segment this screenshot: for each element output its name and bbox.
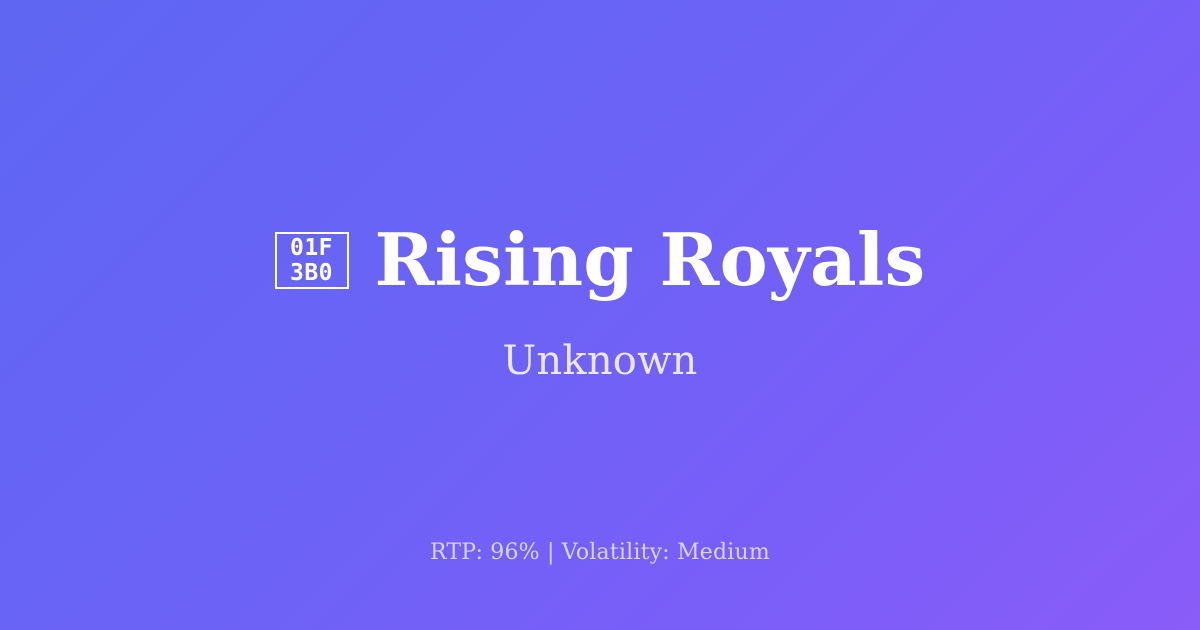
tofu-codepoint-row-top: 01F bbox=[290, 236, 333, 261]
tofu-codepoint-row-bottom: 3B0 bbox=[290, 261, 333, 286]
slot-machine-icon: 01F 3B0 bbox=[275, 232, 349, 289]
og-image-card: 01F 3B0 Rising Royals Unknown RTP: 96% |… bbox=[0, 0, 1200, 630]
game-meta-line: RTP: 96% | Volatility: Medium bbox=[0, 540, 1200, 566]
provider-subtitle: Unknown bbox=[503, 339, 698, 383]
page-title: Rising Royals bbox=[375, 223, 926, 298]
title-row: 01F 3B0 Rising Royals bbox=[275, 223, 926, 298]
